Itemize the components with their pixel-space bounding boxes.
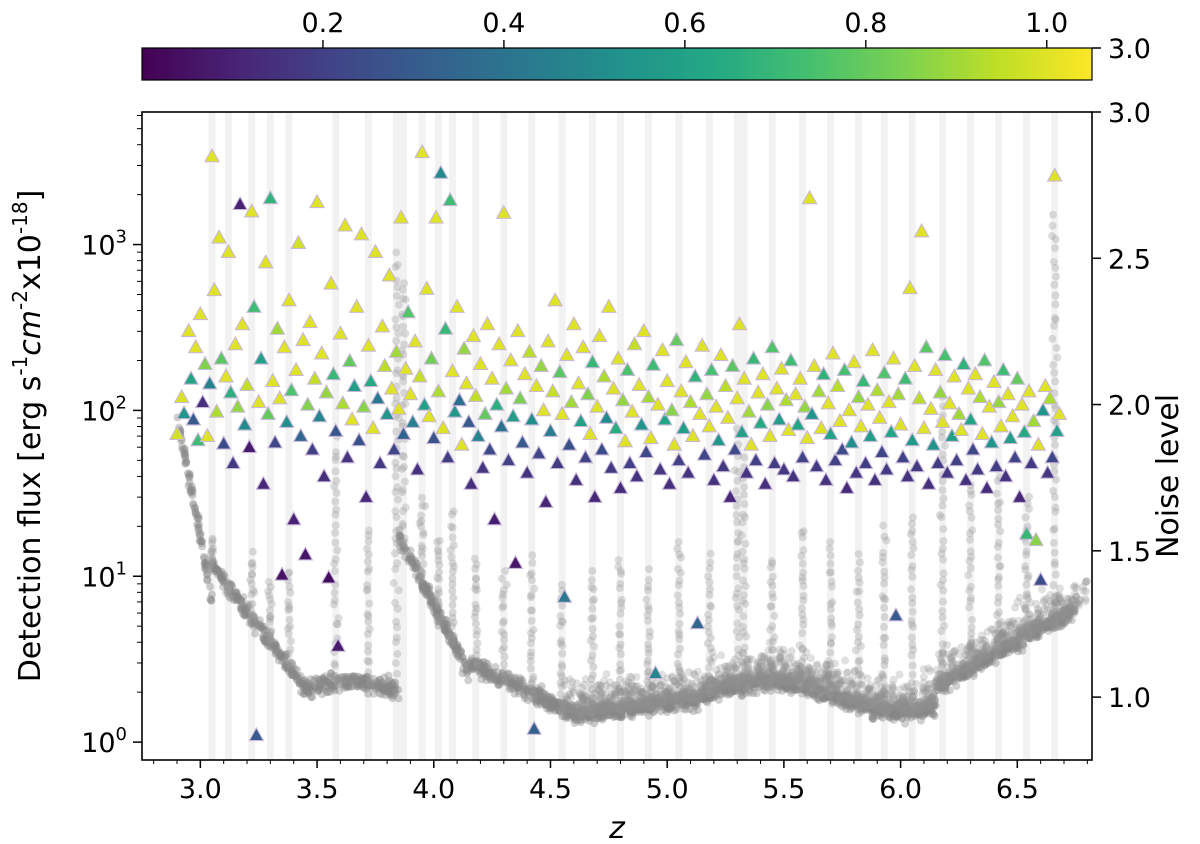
noise-point-spike <box>335 614 343 622</box>
noise-point-spike <box>1022 581 1030 589</box>
detection-marker <box>508 556 522 569</box>
detection-marker <box>539 495 553 508</box>
detection-marker <box>719 379 733 392</box>
detection-marker <box>812 384 826 397</box>
noise-point-spike <box>363 610 371 618</box>
noise-point-spike <box>227 595 235 603</box>
noise-point-spike <box>588 605 596 613</box>
detection-marker <box>1020 527 1034 540</box>
noise-point-spike <box>527 664 535 672</box>
noise-point <box>951 660 959 668</box>
noise-point <box>858 672 866 680</box>
detection-marker <box>469 389 483 402</box>
noise-point <box>715 686 723 694</box>
detection-marker <box>1006 409 1020 422</box>
noise-point <box>763 657 771 665</box>
noise-point-spike <box>707 550 715 558</box>
noise-point-spike <box>393 634 401 642</box>
noise-point <box>481 672 489 680</box>
noise-point <box>255 620 263 628</box>
noise-point-spike <box>285 616 293 624</box>
detection-marker <box>305 442 319 455</box>
detection-marker <box>338 218 352 231</box>
noise-point <box>576 705 584 713</box>
noise-point <box>206 583 214 591</box>
noise-point <box>623 704 631 712</box>
noise-point <box>348 674 356 682</box>
noise-point <box>806 665 814 673</box>
x-tick-label: 6.5 <box>996 774 1039 805</box>
noise-point <box>573 679 581 687</box>
noise-point-spike <box>616 660 624 668</box>
noise-point-spike <box>704 611 712 619</box>
noise-point-spike <box>401 330 409 338</box>
noise-point-spike <box>391 549 399 557</box>
noise-point-spike <box>399 520 407 528</box>
detection-marker <box>574 414 588 427</box>
noise-point-spike <box>939 576 947 584</box>
detection-marker <box>375 319 389 332</box>
noise-point-spike <box>799 546 807 554</box>
noise-point <box>841 656 849 664</box>
noise-point <box>464 676 472 684</box>
plot-area <box>170 112 1091 760</box>
noise-point-spike <box>365 527 373 535</box>
noise-point <box>1024 623 1032 631</box>
detection-marker <box>254 351 268 364</box>
noise-point <box>981 652 989 660</box>
x-tick-label: 5.0 <box>646 774 689 805</box>
detection-marker <box>712 433 726 446</box>
detection-marker <box>317 469 331 482</box>
noise-point <box>723 683 731 691</box>
noise-point <box>701 680 709 688</box>
noise-point-spike <box>500 660 508 668</box>
noise-point <box>513 680 521 688</box>
detection-marker <box>282 293 296 306</box>
noise-point-spike <box>739 612 747 620</box>
noise-point-spike <box>435 568 443 576</box>
noise-point <box>569 701 577 709</box>
noise-point-spike <box>364 668 372 676</box>
noise-point <box>890 676 898 684</box>
noise-point-spike <box>798 629 806 637</box>
noise-point-spike <box>909 513 917 521</box>
noise-point-spike <box>854 599 862 607</box>
noise-point-spike <box>995 539 1003 547</box>
detection-marker <box>555 407 569 420</box>
noise-point-spike <box>907 551 915 559</box>
noise-point <box>889 684 897 692</box>
detection-marker <box>459 376 473 389</box>
noise-point-spike <box>854 620 862 628</box>
noise-point-spike <box>331 589 339 597</box>
noise-point-spike <box>675 599 683 607</box>
noise-point <box>1079 583 1087 591</box>
noise-point <box>926 667 934 675</box>
noise-point-spike <box>995 573 1003 581</box>
noise-point <box>717 651 725 659</box>
noise-point-spike <box>558 650 566 658</box>
noise-point <box>1016 594 1024 602</box>
detection-marker <box>233 197 247 210</box>
noise-point <box>993 611 1001 619</box>
noise-point-spike <box>528 607 536 615</box>
detection-marker <box>184 371 198 384</box>
noise-point <box>491 663 499 671</box>
noise-point-spike <box>248 570 256 578</box>
noise-point <box>668 672 676 680</box>
noise-point <box>1015 637 1023 645</box>
noise-point-spike <box>798 604 806 612</box>
detection-marker <box>497 206 511 219</box>
noise-point <box>600 677 608 685</box>
noise-point-spike <box>365 565 373 573</box>
noise-point-spike <box>400 463 408 471</box>
noise-point-spike <box>673 545 681 553</box>
noise-point-spike <box>939 525 947 533</box>
noise-point-spike <box>529 673 537 681</box>
x-tick-label: 4.5 <box>529 774 572 805</box>
detection-marker <box>457 341 471 354</box>
noise-point-spike <box>880 634 888 642</box>
noise-point-spike <box>675 538 683 546</box>
noise-point <box>931 712 939 720</box>
colorbar-tick-label: 0.6 <box>663 8 706 39</box>
x-tick-label: 5.5 <box>762 774 805 805</box>
noise-point-spike <box>331 674 339 682</box>
noise-point <box>966 641 974 649</box>
noise-point <box>1070 583 1078 591</box>
noise-point <box>566 691 574 699</box>
noise-point-spike <box>392 659 400 667</box>
noise-point-spike <box>588 576 596 584</box>
noise-point-spike <box>401 400 409 408</box>
noise-point-spike <box>448 574 456 582</box>
noise-point-spike <box>433 538 441 546</box>
detection-marker <box>975 427 989 440</box>
detection-marker <box>653 462 667 475</box>
detection-marker <box>576 340 590 353</box>
noise-point-spike <box>1048 335 1056 343</box>
noise-point-spike <box>364 558 372 566</box>
noise-point-spike <box>854 567 862 575</box>
noise-point-spike <box>645 565 653 573</box>
noise-point-spike <box>473 646 481 654</box>
noise-point-spike <box>908 527 916 535</box>
noise-point-spike <box>879 592 887 600</box>
noise-point <box>561 676 569 684</box>
noise-point-spike <box>1053 353 1061 361</box>
noise-point-spike <box>909 671 917 679</box>
noise-point-spike <box>474 639 482 647</box>
noise-point-spike <box>879 522 887 530</box>
noise-point <box>807 654 815 662</box>
noise-point-spike <box>826 538 834 546</box>
noise-point <box>1024 594 1032 602</box>
noise-point-spike <box>1051 377 1059 385</box>
noise-point-spike <box>909 608 917 616</box>
noise-point-spike <box>645 576 653 584</box>
detection-marker <box>315 346 329 359</box>
noise-point-spike <box>938 607 946 615</box>
noise-point-spike <box>529 626 537 634</box>
noise-point <box>434 622 442 630</box>
colorbar-tick-label: 0.4 <box>482 8 525 39</box>
noise-point <box>259 634 267 642</box>
noise-point <box>795 671 803 679</box>
detection-marker <box>672 453 686 466</box>
noise-point-spike <box>1048 232 1056 240</box>
noise-point <box>181 450 189 458</box>
noise-point <box>791 660 799 668</box>
detection-marker <box>784 353 798 366</box>
noise-point-spike <box>996 562 1004 570</box>
detection-marker <box>632 378 646 391</box>
noise-point <box>747 669 755 677</box>
noise-point-spike <box>1050 281 1058 289</box>
noise-point-spike <box>265 578 273 586</box>
noise-point <box>873 677 881 685</box>
detection-marker <box>641 390 655 403</box>
noise-point-spike <box>226 586 234 594</box>
colorbar[interactable]: 0.20.40.60.81.0 <box>142 8 1092 80</box>
detection-marker <box>917 421 931 434</box>
noise-point <box>724 667 732 675</box>
noise-point-spike <box>287 637 295 645</box>
noise-point <box>693 678 701 686</box>
noise-point <box>582 675 590 683</box>
noise-point-spike <box>740 491 748 499</box>
noise-point-spike <box>392 527 400 535</box>
detection-marker <box>747 351 761 364</box>
x-tick-label: 3.0 <box>179 774 222 805</box>
noise-point-spike <box>471 555 479 563</box>
noise-point-spike <box>734 584 742 592</box>
noise-point <box>186 471 194 479</box>
noise-point-spike <box>798 529 806 537</box>
noise-point-spike <box>449 524 457 532</box>
noise-point <box>308 693 316 701</box>
noise-point <box>538 693 546 701</box>
noise-point-spike <box>964 571 972 579</box>
noise-point-spike <box>1051 441 1059 449</box>
noise-point-spike <box>940 495 948 503</box>
noise-point-spike <box>881 613 889 621</box>
noise-point <box>1081 597 1089 605</box>
noise-point-spike <box>799 560 807 568</box>
noise-point <box>598 716 606 724</box>
noise-point <box>908 687 916 695</box>
noise-point-spike <box>994 515 1002 523</box>
noise-point-spike <box>853 588 861 596</box>
noise-point-spike <box>768 622 776 630</box>
noise-point-spike <box>767 602 775 610</box>
noise-point <box>854 665 862 673</box>
noise-point <box>533 701 541 709</box>
noise-point-spike <box>401 478 409 486</box>
noise-point-spike <box>967 547 975 555</box>
noise-point-spike <box>399 286 407 294</box>
noise-point <box>738 649 746 657</box>
noise-point-spike <box>740 591 748 599</box>
noise-point <box>937 654 945 662</box>
noise-point-spike <box>738 548 746 556</box>
noise-point-spike <box>449 533 457 541</box>
detection-marker <box>415 145 429 158</box>
noise-point-spike <box>392 337 400 345</box>
noise-point <box>952 669 960 677</box>
detection-marker <box>273 391 287 404</box>
noise-point-spike <box>706 585 714 593</box>
noise-point-spike <box>908 634 916 642</box>
noise-point <box>680 675 688 683</box>
noise-point <box>597 693 605 701</box>
noise-point-spike <box>472 582 480 590</box>
noise-point-spike <box>909 661 917 669</box>
noise-point-spike <box>995 593 1003 601</box>
noise-point-spike <box>908 594 916 602</box>
noise-point-spike <box>363 581 371 589</box>
detection-marker <box>585 355 599 368</box>
noise-point-spike <box>498 628 506 636</box>
detection-marker <box>887 351 901 364</box>
noise-point-spike <box>642 596 650 604</box>
noise-point-spike <box>590 596 598 604</box>
detection-marker <box>298 547 312 560</box>
noise-point-spike <box>644 603 652 611</box>
detection-marker <box>889 608 903 621</box>
noise-point <box>1038 585 1046 593</box>
noise-point-spike <box>333 546 341 554</box>
noise-point <box>730 672 738 680</box>
noise-point-spike <box>967 583 975 591</box>
noise-point-spike <box>331 596 339 604</box>
noise-point-spike <box>616 580 624 588</box>
noise-point <box>878 670 886 678</box>
noise-point-spike <box>731 466 739 474</box>
noise-point-spike <box>363 657 371 665</box>
noise-point-spike <box>391 535 399 543</box>
noise-point-spike <box>908 562 916 570</box>
noise-point <box>755 658 763 666</box>
noise-point <box>849 680 857 688</box>
detection-marker <box>690 616 704 629</box>
detection-marker <box>905 433 919 446</box>
noise-point-spike <box>1052 571 1060 579</box>
noise-point-spike <box>557 637 565 645</box>
x-tick-label: 6.0 <box>879 774 922 805</box>
noise-point-spike <box>391 507 399 515</box>
noise-point <box>186 479 194 487</box>
noise-point-spike <box>938 502 946 510</box>
detection-marker <box>810 459 824 472</box>
noise-point-spike <box>528 559 536 567</box>
detection-marker <box>1031 437 1045 450</box>
detection-marker <box>1034 573 1048 586</box>
noise-point <box>293 676 301 684</box>
noise-point-spike <box>471 601 479 609</box>
detection-marker <box>1003 431 1017 444</box>
noise-point-spike <box>267 627 275 635</box>
noise-point-spike <box>706 602 714 610</box>
noise-point-spike <box>400 279 408 287</box>
noise-point-spike <box>331 539 339 547</box>
noise-point-spike <box>331 497 339 505</box>
noise-point-spike <box>393 650 401 658</box>
detection-marker <box>1048 168 1062 181</box>
noise-point-spike <box>500 643 508 651</box>
detection-marker <box>301 397 315 410</box>
noise-point <box>1062 611 1070 619</box>
detection-marker <box>688 369 702 382</box>
noise-point-spike <box>399 419 407 427</box>
noise-point-spike <box>450 507 458 515</box>
noise-point-spike <box>880 623 888 631</box>
detection-marker <box>221 245 235 258</box>
noise-point <box>382 684 390 692</box>
noise-point <box>917 717 925 725</box>
detection-marker <box>361 338 375 351</box>
noise-point <box>964 647 972 655</box>
noise-point-spike <box>434 545 442 553</box>
detection-marker <box>756 367 770 380</box>
noise-point <box>890 695 898 703</box>
noise-point-spike <box>332 477 340 485</box>
noise-point-spike <box>968 526 976 534</box>
detection-marker <box>623 456 637 469</box>
noise-point-spike <box>1051 300 1059 308</box>
detection-marker <box>1010 371 1024 384</box>
noise-point <box>580 695 588 703</box>
noise-point-spike <box>588 651 596 659</box>
noise-point-spike <box>394 261 402 269</box>
detection-marker <box>350 300 364 313</box>
detection-marker <box>613 481 627 494</box>
noise-point-spike <box>1053 344 1061 352</box>
detection-marker <box>842 403 856 416</box>
scatter-figure: 0.20.40.60.81.03.03.54.04.55.05.56.06.51… <box>0 0 1200 844</box>
detection-marker <box>205 149 219 162</box>
sky-line-band <box>449 112 456 760</box>
noise-point-spike <box>364 641 372 649</box>
noise-point <box>815 694 823 702</box>
noise-point-spike <box>828 578 836 586</box>
noise-point-spike <box>527 648 535 656</box>
noise-point-spike <box>332 448 340 456</box>
detection-marker <box>189 340 203 353</box>
noise-point <box>373 683 381 691</box>
noise-point-spike <box>589 625 597 633</box>
noise-point <box>623 681 631 689</box>
noise-point-spike <box>855 574 863 582</box>
noise-point <box>649 683 657 691</box>
detection-marker <box>511 324 525 337</box>
noise-point-spike <box>881 654 889 662</box>
detection-marker <box>814 421 828 434</box>
noise-point <box>960 665 968 673</box>
detection-marker <box>352 433 366 446</box>
detection-marker <box>751 385 765 398</box>
noise-point-spike <box>401 534 409 542</box>
detection-marker <box>702 419 716 432</box>
noise-point <box>401 553 409 561</box>
noise-point <box>774 678 782 686</box>
detection-marker <box>177 406 191 419</box>
noise-point-spike <box>558 581 566 589</box>
noise-point-spike <box>1051 314 1059 322</box>
detection-marker <box>515 435 529 448</box>
